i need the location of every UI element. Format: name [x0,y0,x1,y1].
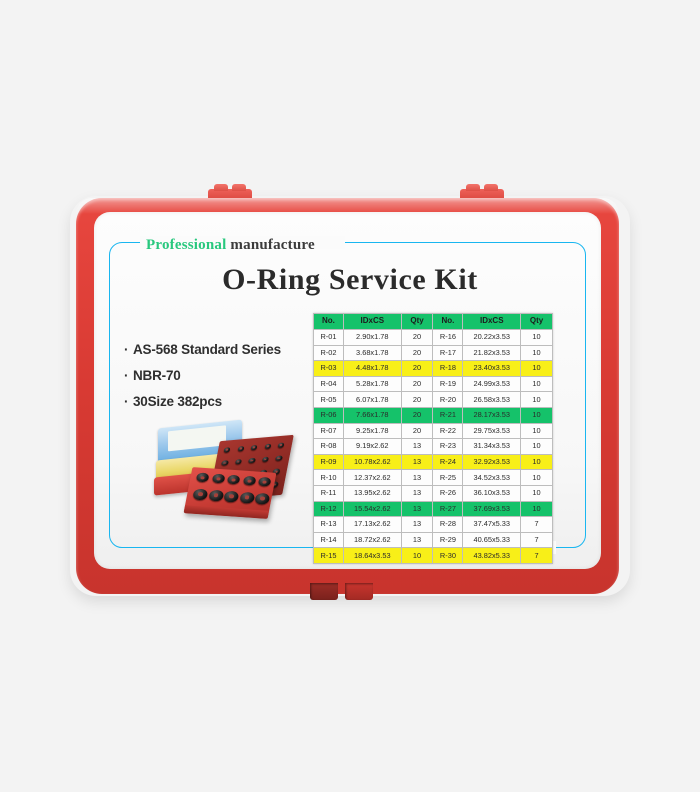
product-photo [150,420,310,532]
cell-idxcs-left: 6.07x1.78 [343,392,401,408]
cell-idxcs-right: 28.17x3.53 [463,407,521,423]
open-case-base [184,467,277,519]
blue-case-label [168,425,226,451]
cell-idxcs-left: 5.28x1.78 [343,376,401,392]
list-item: ·NBR-70 [124,368,324,383]
oring-item [237,446,244,451]
table-row: R-1113.95x2.6213R-2636.10x3.5310 [314,485,553,501]
table-row: R-012.90x1.7820R-1620.22x3.5310 [314,330,553,346]
oring-item [251,445,258,450]
oring-item [261,457,269,463]
list-item-label: AS-568 Standard Series [133,342,281,357]
cell-idxcs-left: 9.19x2.62 [343,439,401,455]
oring-item [211,474,225,484]
cell-idxcs-left: 13.95x2.62 [343,485,401,501]
cell-qty-right: 10 [521,330,553,346]
cell-no-left: R-01 [314,330,344,346]
cell-idxcs-right: 32.92x3.53 [463,454,521,470]
cell-idxcs-right: 37.69x3.53 [463,501,521,517]
list-item: ·30Size 382pcs [124,394,324,409]
oring-item [239,492,255,504]
cell-idxcs-right: 29.75x3.53 [463,423,521,439]
cell-qty-right: 10 [521,407,553,423]
cell-no-right: R-30 [433,548,463,564]
table-row: R-067.66x1.7820R-2128.17x3.5310 [314,407,553,423]
list-item-label: NBR-70 [133,368,181,383]
oring-item [227,475,241,485]
cell-qty-right: 10 [521,501,553,517]
cell-idxcs-left: 18.64x3.53 [343,548,401,564]
cell-idxcs-left: 4.48x1.78 [343,361,401,377]
cell-qty-right: 10 [521,345,553,361]
cell-qty-left: 13 [401,439,433,455]
cell-qty-left: 20 [401,376,433,392]
cell-no-left: R-15 [314,548,344,564]
col-header-idxcs-left: IDxCS [343,314,401,330]
cell-qty-left: 13 [401,454,433,470]
cell-no-left: R-13 [314,517,344,533]
cell-qty-right: 7 [521,532,553,548]
cell-qty-left: 20 [401,423,433,439]
cell-no-right: R-24 [433,454,463,470]
cell-qty-right: 10 [521,485,553,501]
cell-idxcs-right: 31.34x3.53 [463,439,521,455]
table-row: R-089.19x2.6213R-2331.34x3.5310 [314,439,553,455]
oring-item [196,472,210,482]
table-row: R-1215.54x2.6213R-2737.69x3.5310 [314,501,553,517]
oring-item [208,490,224,502]
cell-no-right: R-19 [433,376,463,392]
oring-item [254,493,270,505]
cell-no-left: R-14 [314,532,344,548]
cell-no-left: R-03 [314,361,344,377]
table-row: R-045.28x1.7820R-1924.99x3.5310 [314,376,553,392]
oring-item [264,444,271,449]
header-tagline-professional: Professional [146,237,226,253]
cell-qty-left: 10 [401,548,433,564]
cell-qty-left: 20 [401,407,433,423]
cell-no-left: R-12 [314,501,344,517]
cell-no-right: R-26 [433,485,463,501]
oring-spec-table: No. IDxCS Qty No. IDxCS Qty R-012.90x1.7… [313,313,553,564]
header-tagline-manufacture: manufacture [226,237,314,253]
cell-idxcs-left: 7.66x1.78 [343,407,401,423]
cell-no-right: R-23 [433,439,463,455]
product-photo-scene: Professional manufacture O-Ring Service … [0,0,700,792]
table-row: R-1418.72x2.6213R-2940.65x5.337 [314,532,553,548]
cell-no-right: R-29 [433,532,463,548]
oring-item [278,442,285,447]
cell-no-left: R-05 [314,392,344,408]
cell-no-left: R-08 [314,439,344,455]
oring-item [258,477,272,487]
col-header-no-right: No. [433,314,463,330]
table-row: R-034.48x1.7820R-1823.40x3.5310 [314,361,553,377]
cell-qty-right: 10 [521,361,553,377]
cell-no-right: R-18 [433,361,463,377]
table-row: R-056.07x1.7820R-2026.58x3.5310 [314,392,553,408]
cell-no-right: R-28 [433,517,463,533]
col-header-qty-right: Qty [521,314,553,330]
cell-idxcs-right: 34.52x3.53 [463,470,521,486]
cell-qty-right: 10 [521,470,553,486]
oring-item [275,455,283,461]
list-item: ·AS-568 Standard Series [124,342,324,357]
col-header-idxcs-right: IDxCS [463,314,521,330]
cell-idxcs-right: 24.99x3.53 [463,376,521,392]
cell-idxcs-right: 40.65x5.33 [463,532,521,548]
case-latch-right [345,583,373,600]
cell-no-left: R-07 [314,423,344,439]
table-row: R-1518.64x3.5310R-3043.82x5.337 [314,548,553,564]
table-row: R-1012.37x2.6213R-2534.52x3.5310 [314,470,553,486]
cell-qty-right: 7 [521,548,553,564]
cell-no-left: R-09 [314,454,344,470]
cell-idxcs-left: 12.37x2.62 [343,470,401,486]
oring-item [242,476,256,486]
cell-no-right: R-25 [433,470,463,486]
bullet-marker-icon: · [124,342,133,357]
case-lip [184,505,270,519]
cell-qty-left: 13 [401,485,433,501]
cell-idxcs-right: 20.22x3.53 [463,330,521,346]
cell-no-right: R-20 [433,392,463,408]
table-row: R-0910.78x2.6213R-2432.92x3.5310 [314,454,553,470]
cell-qty-right: 10 [521,392,553,408]
oring-item [224,447,231,452]
cell-no-left: R-02 [314,345,344,361]
oring-item [234,459,242,465]
table-row: R-023.68x1.7820R-1721.82x3.5310 [314,345,553,361]
cell-no-left: R-04 [314,376,344,392]
table-row: R-1317.13x2.6213R-2837.47x5.337 [314,517,553,533]
cell-idxcs-right: 43.82x5.33 [463,548,521,564]
cell-no-left: R-11 [314,485,344,501]
cell-qty-right: 10 [521,423,553,439]
cell-idxcs-left: 18.72x2.62 [343,532,401,548]
feature-bullet-list: ·AS-568 Standard Series ·NBR-70 ·30Size … [124,342,324,420]
cell-qty-right: 10 [521,454,553,470]
cell-qty-left: 20 [401,345,433,361]
cell-qty-left: 20 [401,361,433,377]
header-tagline: Professional manufacture [146,237,315,254]
oring-item [192,488,208,500]
cell-no-right: R-22 [433,423,463,439]
case-latch-left [310,583,338,600]
bullet-marker-icon: · [124,368,133,383]
cell-qty-right: 10 [521,439,553,455]
cell-idxcs-left: 2.90x1.78 [343,330,401,346]
col-header-qty-left: Qty [401,314,433,330]
bullet-marker-icon: · [124,394,133,409]
cell-qty-right: 10 [521,376,553,392]
cell-no-left: R-10 [314,470,344,486]
cell-no-right: R-27 [433,501,463,517]
cell-idxcs-left: 3.68x1.78 [343,345,401,361]
cell-idxcs-right: 23.40x3.53 [463,361,521,377]
cell-idxcs-right: 37.47x5.33 [463,517,521,533]
cell-idxcs-right: 21.82x3.53 [463,345,521,361]
cell-idxcs-left: 10.78x2.62 [343,454,401,470]
cell-no-left: R-06 [314,407,344,423]
table-row: R-079.25x1.7820R-2229.75x3.5310 [314,423,553,439]
oring-item [221,460,229,466]
cell-no-right: R-17 [433,345,463,361]
col-header-no-left: No. [314,314,344,330]
cell-qty-left: 13 [401,501,433,517]
list-item-label: 30Size 382pcs [133,394,222,409]
cell-idxcs-left: 17.13x2.62 [343,517,401,533]
cell-idxcs-right: 26.58x3.53 [463,392,521,408]
cell-no-right: R-21 [433,407,463,423]
oring-item [223,491,239,503]
cell-no-right: R-16 [433,330,463,346]
cell-idxcs-left: 9.25x1.78 [343,423,401,439]
cell-idxcs-left: 15.54x2.62 [343,501,401,517]
oring-item [248,458,256,464]
cell-qty-left: 13 [401,532,433,548]
cell-qty-left: 13 [401,470,433,486]
cell-qty-right: 7 [521,517,553,533]
table-header-row: No. IDxCS Qty No. IDxCS Qty [314,314,553,330]
cell-idxcs-right: 36.10x3.53 [463,485,521,501]
product-title: O-Ring Service Kit [0,263,700,297]
cell-qty-left: 20 [401,392,433,408]
cell-qty-left: 13 [401,517,433,533]
cell-qty-left: 20 [401,330,433,346]
